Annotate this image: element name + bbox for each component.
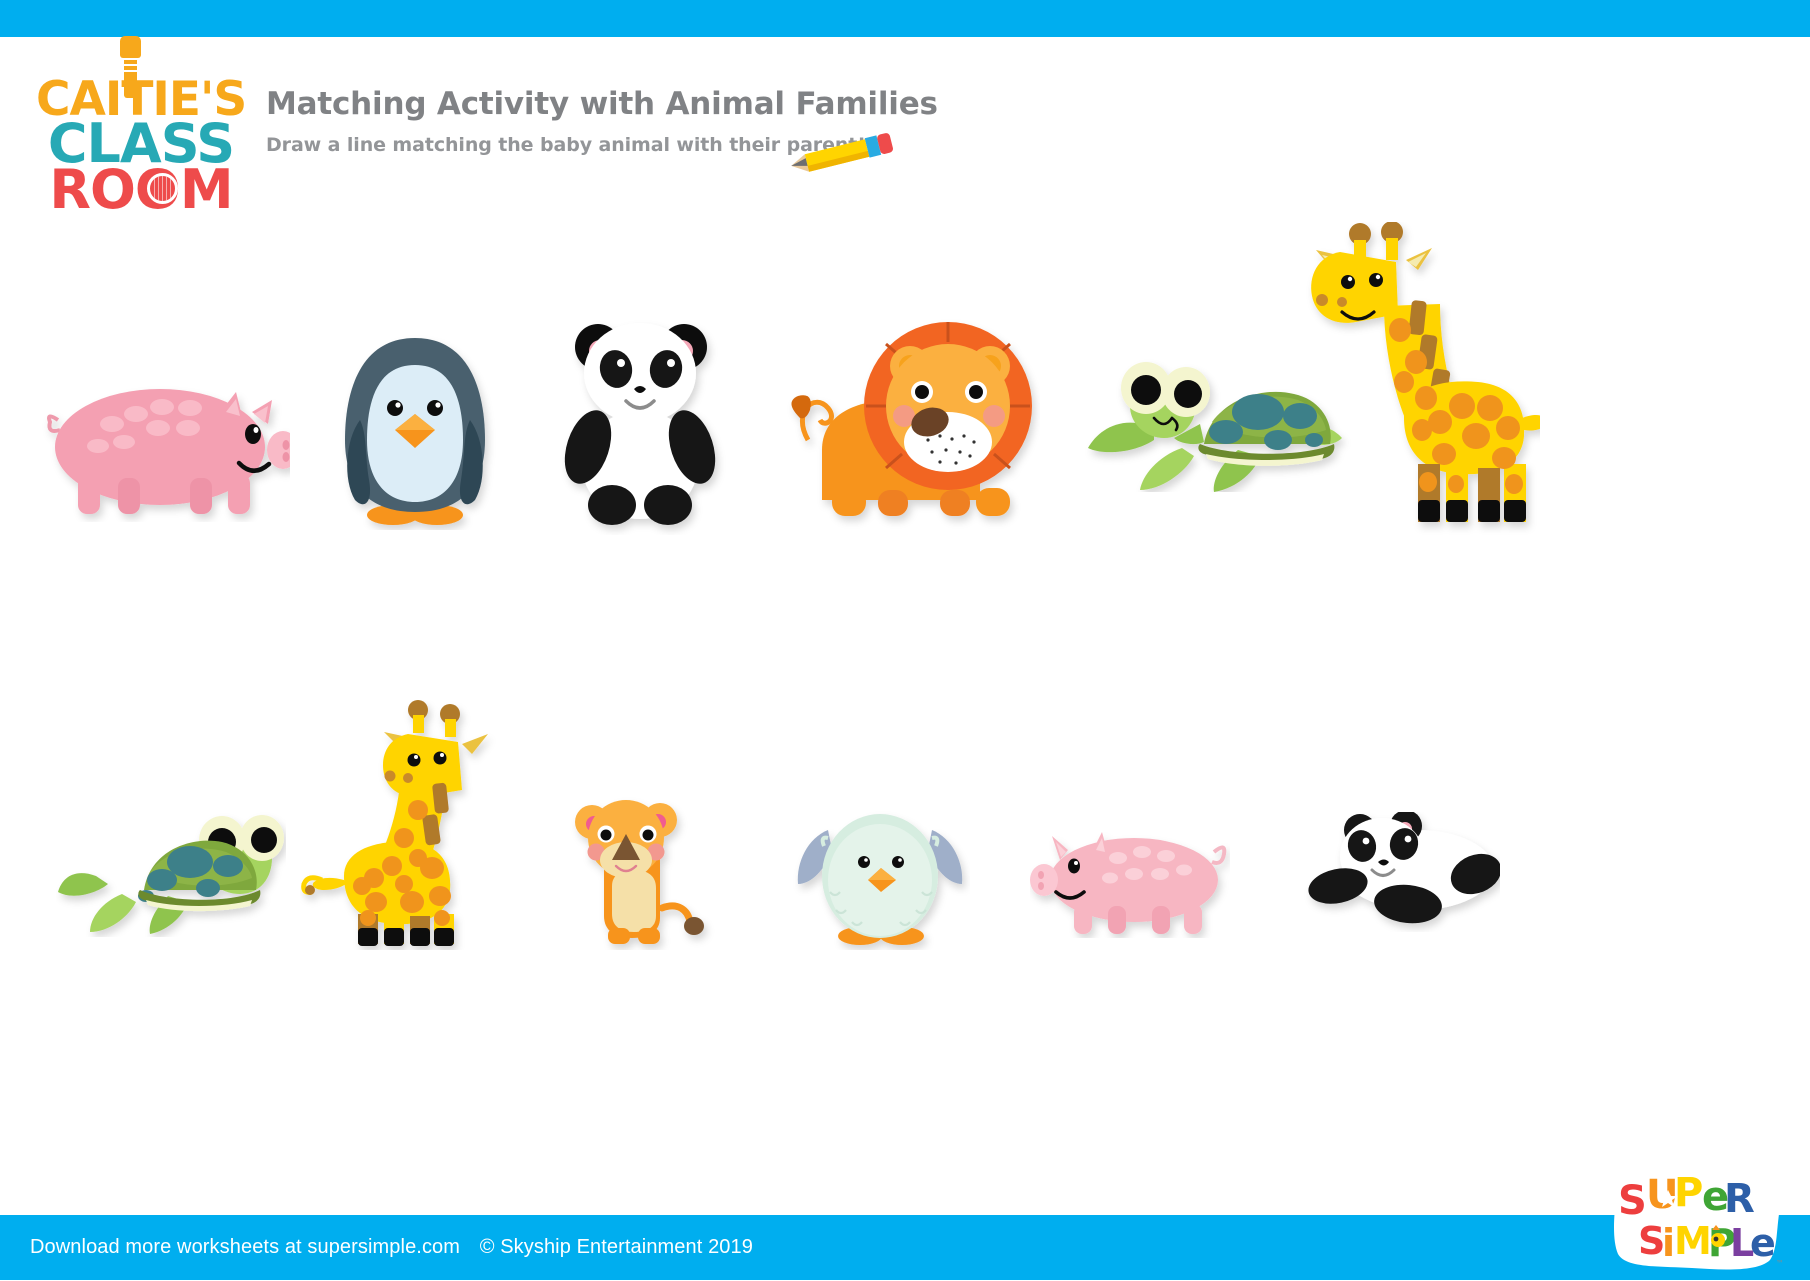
svg-text:S: S [1618,1178,1647,1224]
baby-giraffe-icon [300,700,515,950]
pig-icon [40,362,290,522]
giraffe-icon [1300,222,1540,542]
caities-classroom-logo: CAITIE'S CLASS ROOM [36,36,246,211]
pencil-icon [782,128,897,183]
footer-copyright: © Skyship Entertainment 2019 [480,1236,753,1258]
svg-text:™: ™ [1776,1259,1784,1268]
panda-icon [540,305,740,535]
baby-penguin-icon [790,800,970,950]
footer-download-text: Download more worksheets at supersimple.… [30,1236,460,1258]
svg-text:e: e [1750,1221,1776,1265]
svg-text:R: R [1724,1176,1755,1222]
baby-panda-icon [1300,812,1500,932]
baby-turtle-icon [56,812,286,937]
svg-text:P: P [1674,1170,1703,1216]
top-accent-bar [0,0,1810,37]
lion-cub-icon [560,790,730,950]
guitar-sound-hole-icon [147,173,178,204]
lion-icon [780,300,1040,535]
super-simple-logo: S U P e R S i M P L e ™ [1612,1168,1787,1276]
footer-text: Download more worksheets at supersimple.… [30,1236,753,1259]
page-title: Matching Activity with Animal Families [266,86,938,122]
page-subtitle: Draw a line matching the baby animal wit… [266,134,866,156]
piglet-icon [1030,818,1230,938]
svg-text:M: M [1674,1219,1712,1263]
penguin-icon [325,330,505,530]
logo-line-room: ROOM [36,158,246,221]
